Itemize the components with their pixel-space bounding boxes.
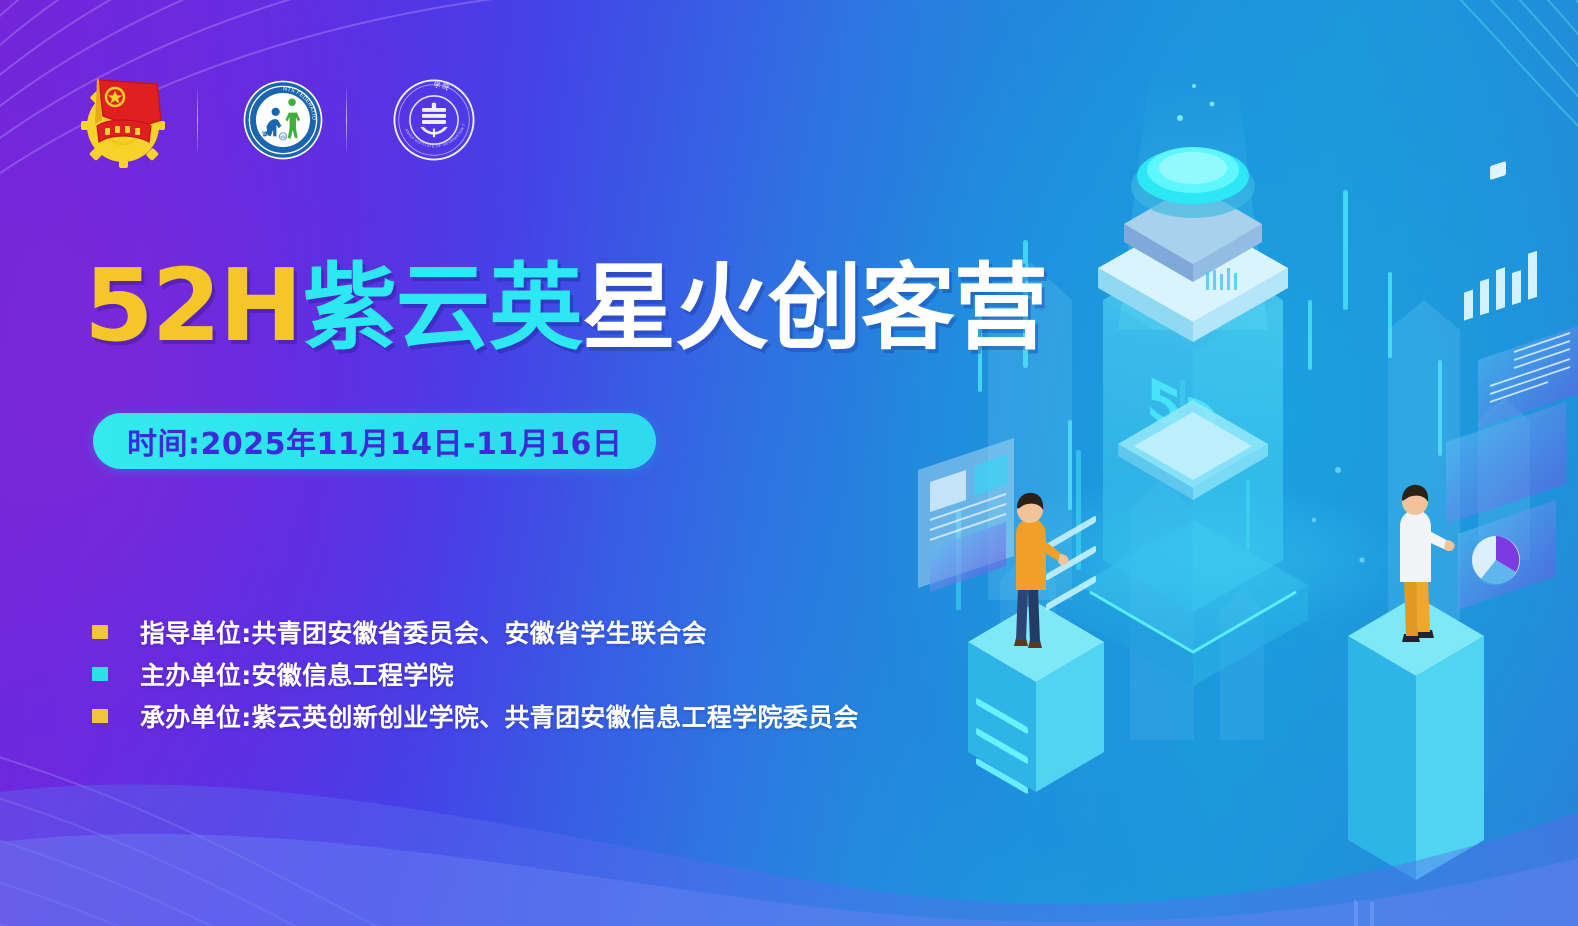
logo-divider-1 bbox=[197, 87, 198, 153]
svg-text:ANHUI INSTITUTE OF INFORMATION: ANHUI INSTITUTE OF INFORMATION TECHNOLOG… bbox=[391, 77, 466, 148]
bullet-square-icon bbox=[92, 709, 108, 723]
logo-divider-2 bbox=[346, 87, 347, 153]
organizer-line: 主办单位:安徽信息工程学院 bbox=[140, 656, 454, 692]
background-blue-glow bbox=[600, 0, 1578, 926]
bullet-square-icon bbox=[92, 667, 108, 681]
title-white-part: 星火创客营 bbox=[582, 254, 1047, 363]
list-item: 指导单位:共青团安徽省委员会、安徽省学生联合会 bbox=[92, 612, 859, 652]
title-code: 52H bbox=[84, 247, 301, 364]
svg-text:安徽信息工程学院: 安徽信息工程学院 bbox=[391, 77, 451, 93]
organizer-list: 指导单位:共青团安徽省委员会、安徽省学生联合会 主办单位:安徽信息工程学院 承办… bbox=[92, 612, 859, 738]
logo-anhui-students-federation: ANHUI STUDENTS FEDERATION 学联 安徽省学生联合会 bbox=[220, 79, 324, 161]
university-seal-icon: 安徽信息工程学院 ANHUI INSTITUTE OF INFORMATION … bbox=[391, 77, 477, 163]
page-title: 52H紫云英星火创客营 bbox=[84, 253, 1047, 359]
svg-text:学联: 学联 bbox=[280, 135, 286, 139]
list-item: 主办单位:安徽信息工程学院 bbox=[92, 654, 859, 694]
sponsor-logo-row: ANHUI STUDENTS FEDERATION 学联 安徽省学生联合会 bbox=[75, 70, 477, 170]
event-date-text: 时间:2025年11月14日-11月16日 bbox=[127, 419, 622, 463]
list-item: 承办单位:紫云英创新创业学院、共青团安徽信息工程学院委员会 bbox=[92, 696, 859, 736]
event-date-badge: 时间:2025年11月14日-11月16日 bbox=[93, 413, 656, 469]
anhui-students-federation-icon: ANHUI STUDENTS FEDERATION 学联 安徽省学生联合会 bbox=[242, 79, 324, 161]
bullet-square-icon bbox=[92, 625, 108, 639]
title-cyan-part: 紫云英 bbox=[303, 254, 582, 363]
logo-communist-youth-league bbox=[75, 70, 175, 170]
logo-anhui-institute-of-information-technology: 安徽信息工程学院 ANHUI INSTITUTE OF INFORMATION … bbox=[369, 77, 477, 163]
banner-canvas: ANHUI STUDENTS FEDERATION 学联 安徽省学生联合会 bbox=[0, 0, 1578, 926]
organizer-line: 承办单位:紫云英创新创业学院、共青团安徽信息工程学院委员会 bbox=[140, 698, 859, 734]
communist-youth-league-icon bbox=[75, 70, 175, 170]
organizer-line: 指导单位:共青团安徽省委员会、安徽省学生联合会 bbox=[140, 614, 707, 650]
